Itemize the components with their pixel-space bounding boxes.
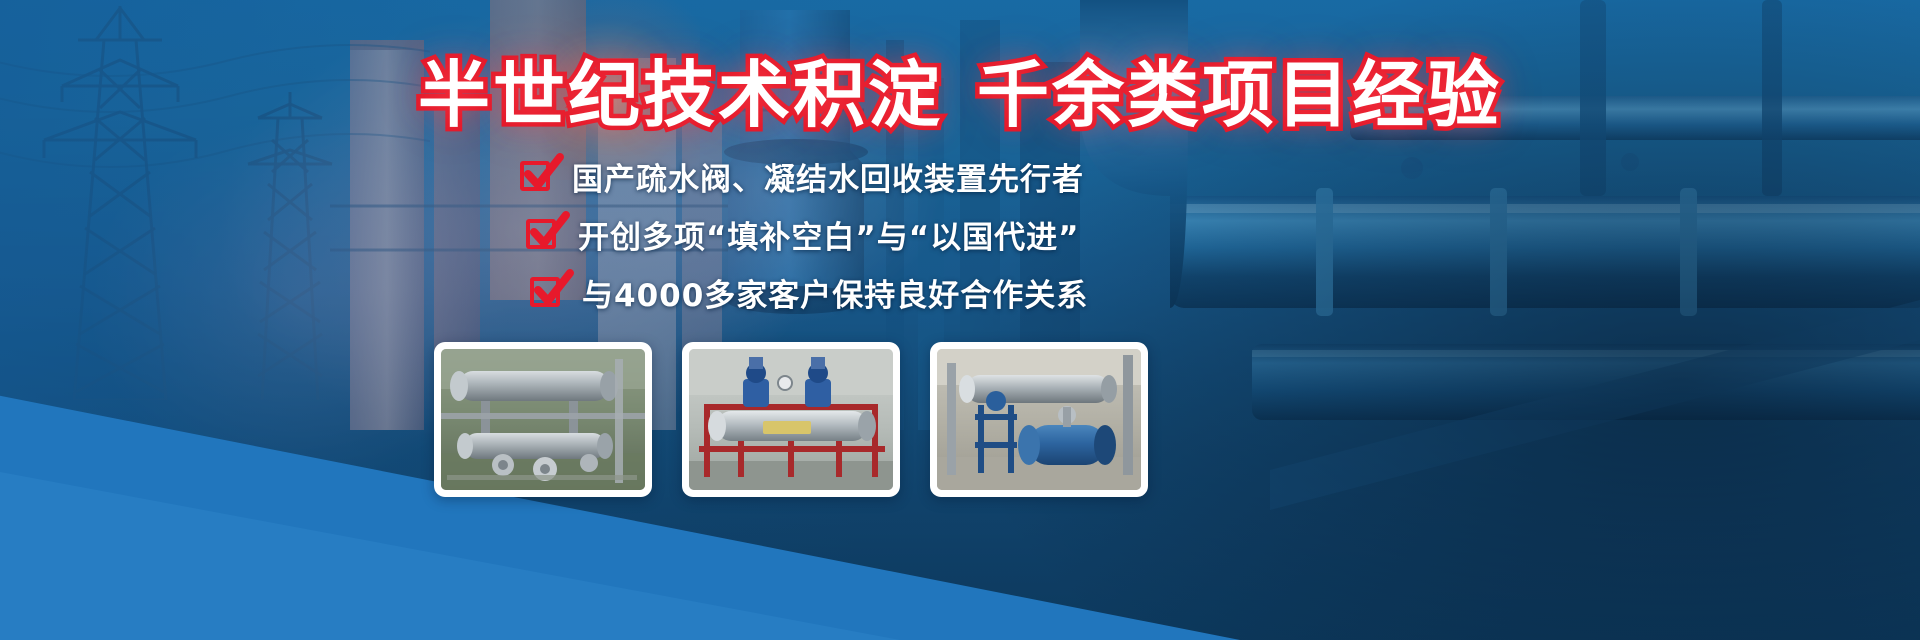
product-photo-3 bbox=[937, 349, 1141, 490]
list-item-label: 与4000多家客户保持良好合作关系 bbox=[582, 270, 1088, 315]
product-photo-card[interactable] bbox=[930, 342, 1148, 497]
feature-list: 国产疏水阀、凝结水回收装置先行者 开创多项“填补空白”与“以国代进” 与4000… bbox=[520, 150, 1220, 324]
product-photo-gallery bbox=[434, 342, 1148, 497]
check-mark-icon bbox=[531, 268, 575, 312]
list-item: 国产疏水阀、凝结水回收装置先行者 bbox=[520, 150, 1220, 202]
list-item-label: 国产疏水阀、凝结水回收装置先行者 bbox=[572, 154, 1084, 199]
page-title: 半世纪技术积淀千余类项目经验 bbox=[0, 36, 1920, 141]
headline-part-2: 千余类项目经验 bbox=[977, 53, 1502, 137]
checkbox-checked-icon bbox=[526, 219, 556, 249]
check-mark-icon bbox=[527, 210, 571, 254]
checkbox-checked-icon bbox=[530, 277, 560, 307]
product-photo-2 bbox=[689, 349, 893, 490]
equipment-photo-graphic bbox=[937, 349, 1141, 490]
list-item: 开创多项“填补空白”与“以国代进” bbox=[520, 208, 1220, 260]
product-photo-card[interactable] bbox=[682, 342, 900, 497]
product-photo-1 bbox=[441, 349, 645, 490]
equipment-photo-graphic bbox=[441, 349, 645, 490]
list-item: 与4000多家客户保持良好合作关系 bbox=[520, 266, 1220, 318]
list-item-label: 开创多项“填补空白”与“以国代进” bbox=[578, 212, 1080, 257]
headline-part-1: 半世纪技术积淀 bbox=[418, 53, 943, 137]
check-mark-icon bbox=[521, 152, 565, 196]
equipment-photo-graphic bbox=[689, 349, 893, 490]
checkbox-checked-icon bbox=[520, 161, 550, 191]
product-photo-card[interactable] bbox=[434, 342, 652, 497]
promo-banner: 半世纪技术积淀千余类项目经验 国产疏水阀、凝结水回收装置先行者 开创多项“填补空… bbox=[0, 0, 1920, 640]
